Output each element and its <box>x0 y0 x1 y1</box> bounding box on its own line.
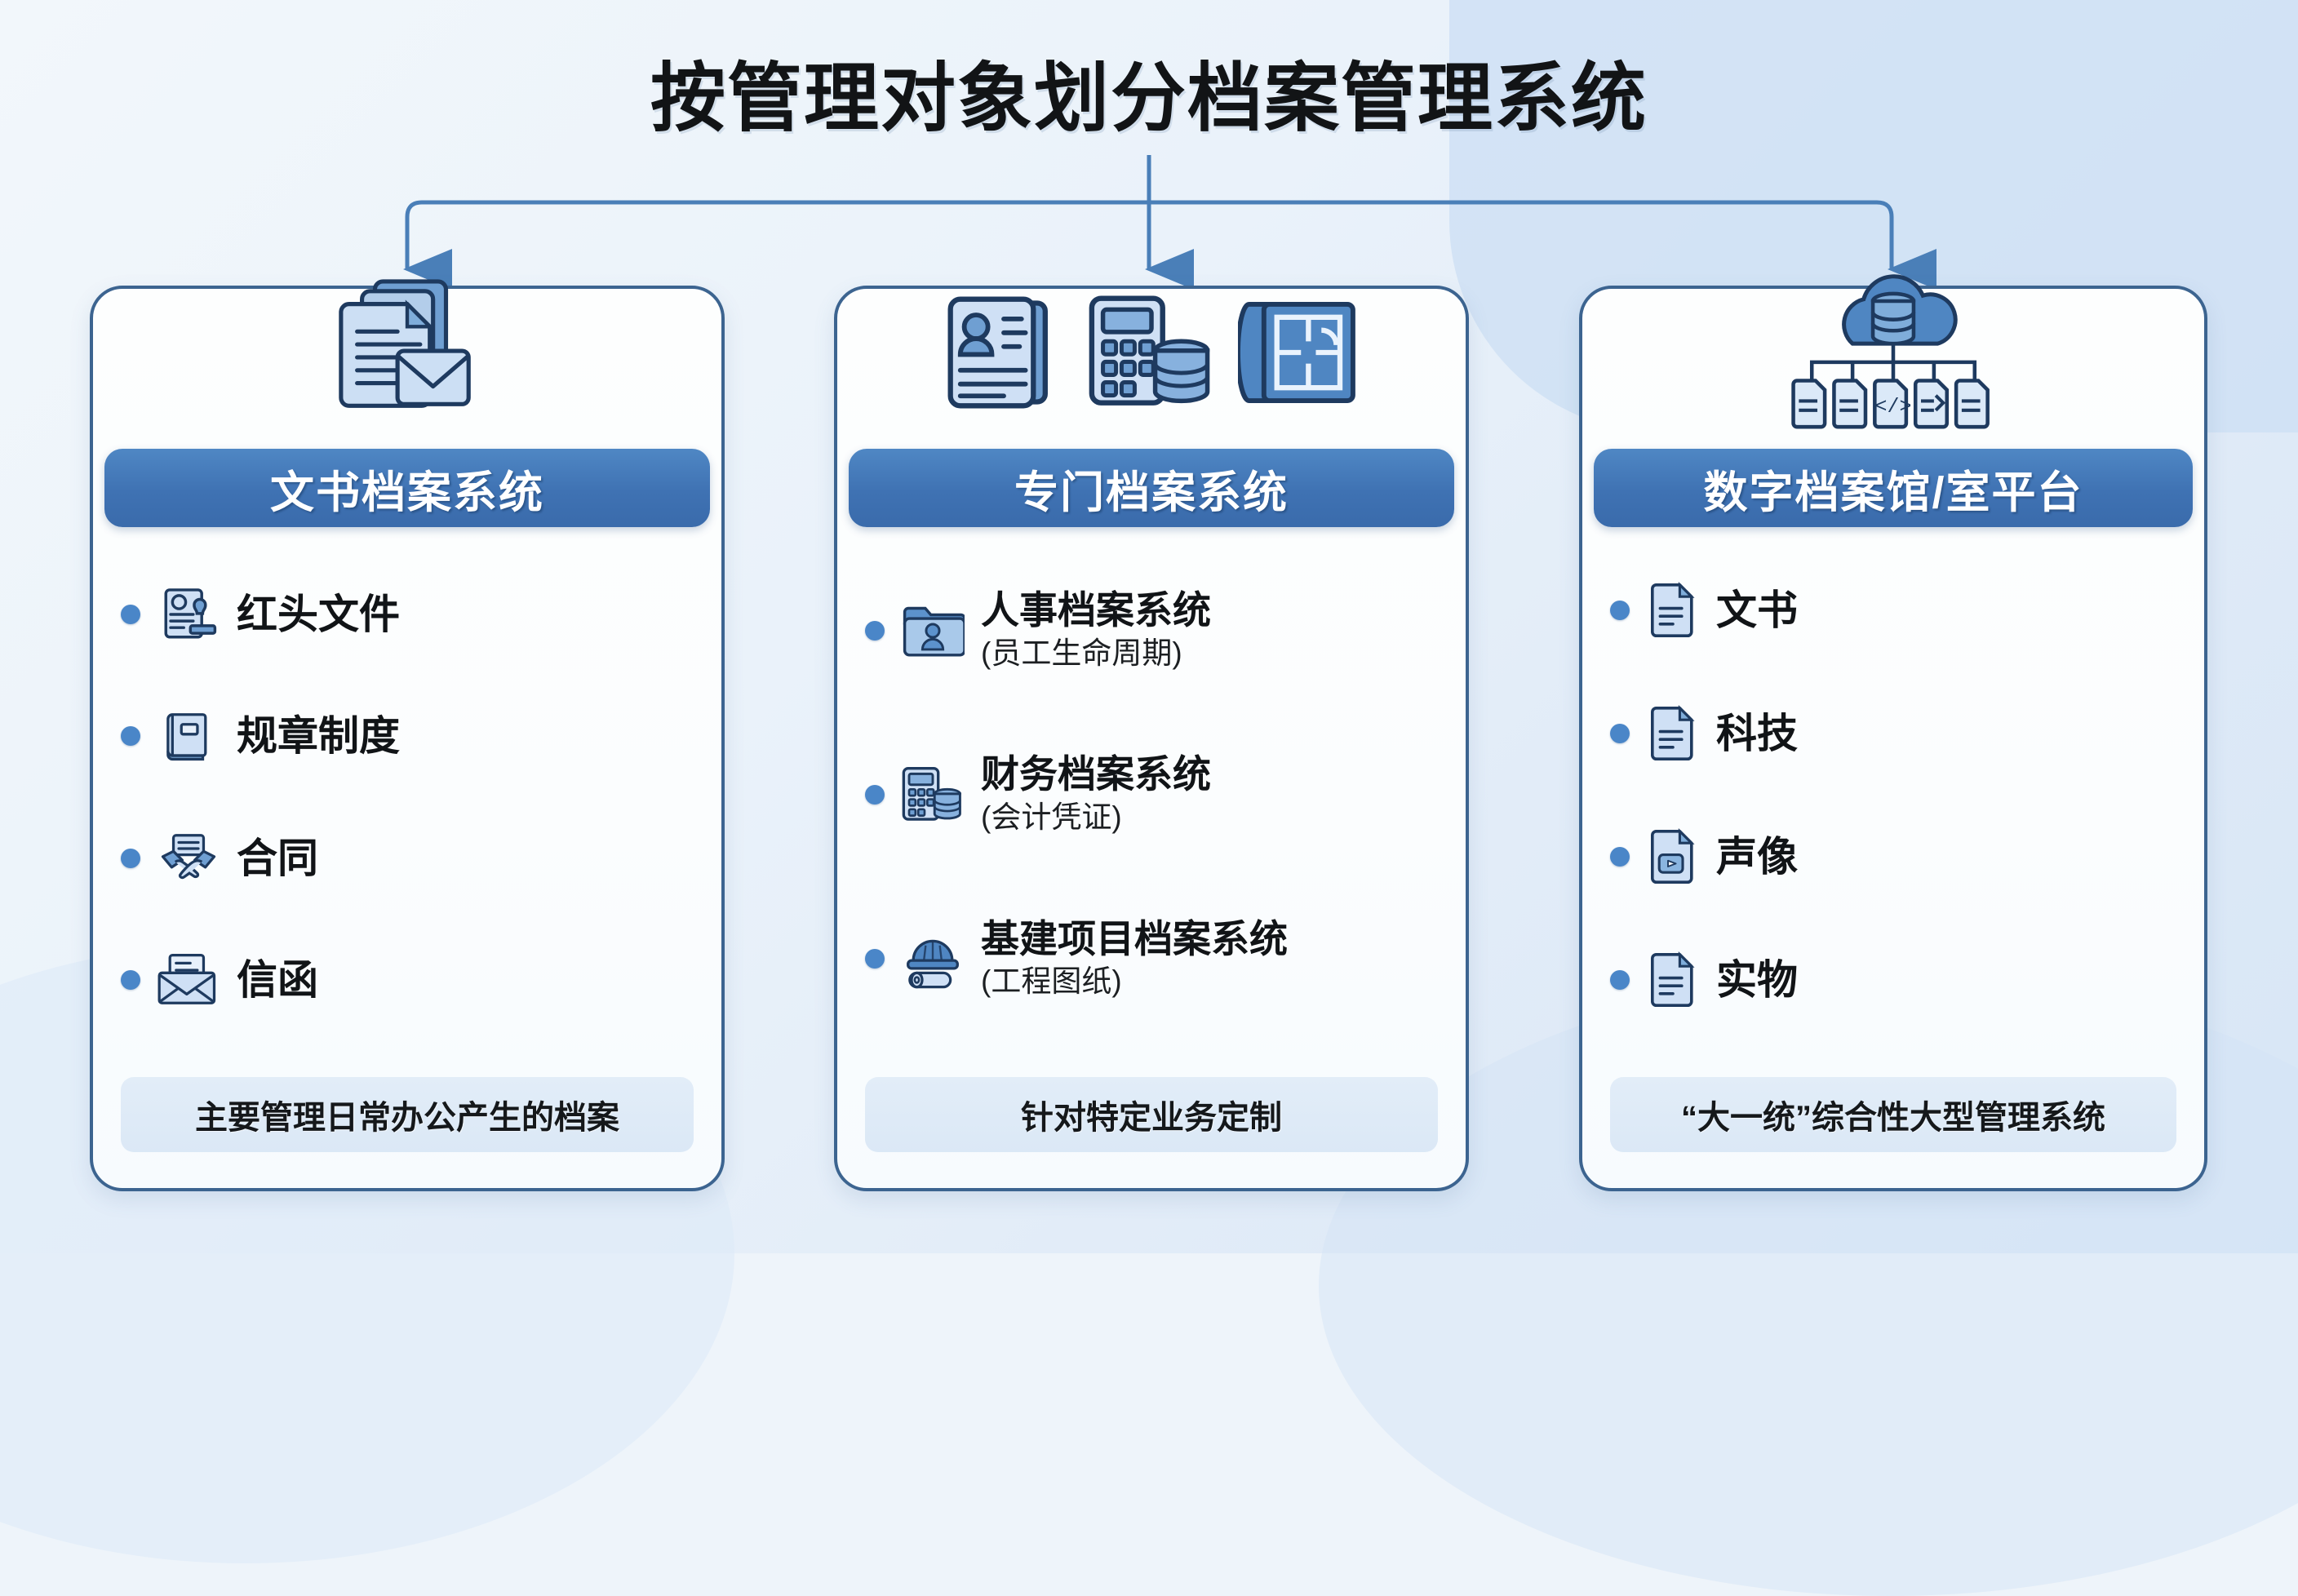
bullet-dot <box>865 949 885 969</box>
card-header-zhuanmen: 专门档案系统 <box>849 449 1454 527</box>
bullet-dot <box>121 605 140 624</box>
document-icon <box>1646 707 1700 760</box>
page-title: 按管理对象划分档案管理系统 <box>0 38 2298 146</box>
list-item-text: 科技 <box>1716 711 1798 756</box>
card-header-text: 数字档案馆/室平台 <box>1703 456 2083 521</box>
card-header-text: 专门档案系统 <box>1014 456 1289 521</box>
svg-text:</>: </> <box>1875 396 1912 419</box>
list-item-sublabel: (工程图纸) <box>981 964 1288 1000</box>
card-footer-text: 主要管理日常办公产生的档案 <box>195 1091 619 1138</box>
list-item-label: 人事档案系统 <box>981 589 1211 632</box>
card-footer-wenshu: 主要管理日常办公产生的档案 <box>121 1077 694 1152</box>
folder-person-icon <box>901 599 965 663</box>
list-item[interactable]: 人事档案系统 (员工生命周期) <box>865 589 1446 672</box>
list-item-label: 信函 <box>237 957 318 1003</box>
card-footer-text: 针对特定业务定制 <box>1021 1091 1282 1138</box>
list-item-text: 规章制度 <box>237 713 400 759</box>
card-list-shuzi: 文书 科技 <box>1610 548 2185 1041</box>
list-item[interactable]: 文书 <box>1610 583 2185 637</box>
list-item-sublabel: (会计凭证) <box>981 800 1211 836</box>
list-item-text: 基建项目档案系统 (工程图纸) <box>981 918 1288 1000</box>
list-item[interactable]: 合同 <box>121 827 702 890</box>
list-item-text: 声像 <box>1716 834 1798 880</box>
card-shuzi[interactable]: </> 数字档案馆/室平台 <box>1579 286 2207 1191</box>
card-illustration-wenshu <box>93 271 721 434</box>
list-item-label: 科技 <box>1716 711 1798 756</box>
document-icon <box>1646 953 1700 1007</box>
calculator-coins-icon <box>901 763 965 827</box>
card-list-wenshu: 红头文件 规章制度 <box>121 548 702 1041</box>
card-footer-zhuanmen: 针对特定业务定制 <box>865 1077 1438 1152</box>
list-item-text: 实物 <box>1716 957 1798 1003</box>
hardhat-blueprint-roll-icon <box>901 927 965 991</box>
open-envelope-icon <box>157 948 220 1012</box>
list-item-label: 声像 <box>1716 834 1798 880</box>
bullet-dot <box>1610 724 1630 743</box>
stacked-documents-envelope-icon <box>326 275 489 430</box>
list-item-text: 红头文件 <box>237 592 400 637</box>
card-footer-shuzi: “大一统”综合性大型管理系统 <box>1610 1077 2176 1152</box>
bullet-dot <box>1610 847 1630 867</box>
list-item-label: 财务档案系统 <box>981 753 1211 796</box>
list-item[interactable]: 声像 <box>1610 830 2185 884</box>
bullet-dot <box>865 621 885 641</box>
card-illustration-shuzi: </> <box>1582 271 2204 434</box>
list-item-label: 合同 <box>237 836 318 881</box>
bullet-dot <box>1610 601 1630 620</box>
card-illustration-zhuanmen <box>837 271 1466 434</box>
list-item-label: 规章制度 <box>237 713 400 759</box>
bullet-dot <box>121 849 140 868</box>
blueprint-icon <box>1238 288 1360 417</box>
card-header-wenshu: 文书档案系统 <box>104 449 710 527</box>
list-item[interactable]: 财务档案系统 (会计凭证) <box>865 753 1446 836</box>
card-header-shuzi: 数字档案馆/室平台 <box>1594 449 2193 527</box>
card-header-text: 文书档案系统 <box>270 456 544 521</box>
book-icon <box>157 704 220 768</box>
list-item-label: 红头文件 <box>237 592 400 637</box>
contact-card-icon <box>943 287 1065 418</box>
document-icon <box>1646 583 1700 637</box>
list-item-label: 文书 <box>1716 587 1798 633</box>
bullet-dot <box>121 970 140 990</box>
bullet-dot <box>1610 970 1630 990</box>
list-item[interactable]: 实物 <box>1610 953 2185 1007</box>
list-item-sublabel: (员工生命周期) <box>981 636 1211 672</box>
list-item-text: 信函 <box>237 957 318 1003</box>
list-item-label: 实物 <box>1716 957 1798 1003</box>
list-item-text: 文书 <box>1716 587 1798 633</box>
list-item-text: 财务档案系统 (会计凭证) <box>981 753 1211 836</box>
card-zhuanmen[interactable]: 专门档案系统 人事档案系统 (员工生命周期) <box>834 286 1469 1191</box>
stamped-document-icon <box>157 583 220 646</box>
card-wenshu[interactable]: 文书档案系统 <box>90 286 725 1191</box>
list-item[interactable]: 红头文件 <box>121 583 702 646</box>
list-item[interactable]: 基建项目档案系统 (工程图纸) <box>865 918 1446 1000</box>
card-list-zhuanmen: 人事档案系统 (员工生命周期) <box>865 548 1446 1041</box>
bullet-dot <box>865 785 885 805</box>
list-item-text: 合同 <box>237 836 318 881</box>
bullet-dot <box>121 726 140 746</box>
card-footer-text: “大一统”综合性大型管理系统 <box>1681 1091 2105 1138</box>
list-item-label: 基建项目档案系统 <box>981 918 1288 961</box>
list-item[interactable]: 信函 <box>121 948 702 1012</box>
calculator-coins-icon <box>1086 287 1217 418</box>
list-item[interactable]: 科技 <box>1610 707 2185 760</box>
list-item-text: 人事档案系统 (员工生命周期) <box>981 589 1211 672</box>
handshake-contract-icon <box>157 827 220 890</box>
video-document-icon <box>1646 830 1700 884</box>
list-item[interactable]: 规章制度 <box>121 704 702 768</box>
columns-container: 文书档案系统 <box>0 0 2298 1253</box>
cloud-database-network-icon: </> <box>1771 273 2016 432</box>
